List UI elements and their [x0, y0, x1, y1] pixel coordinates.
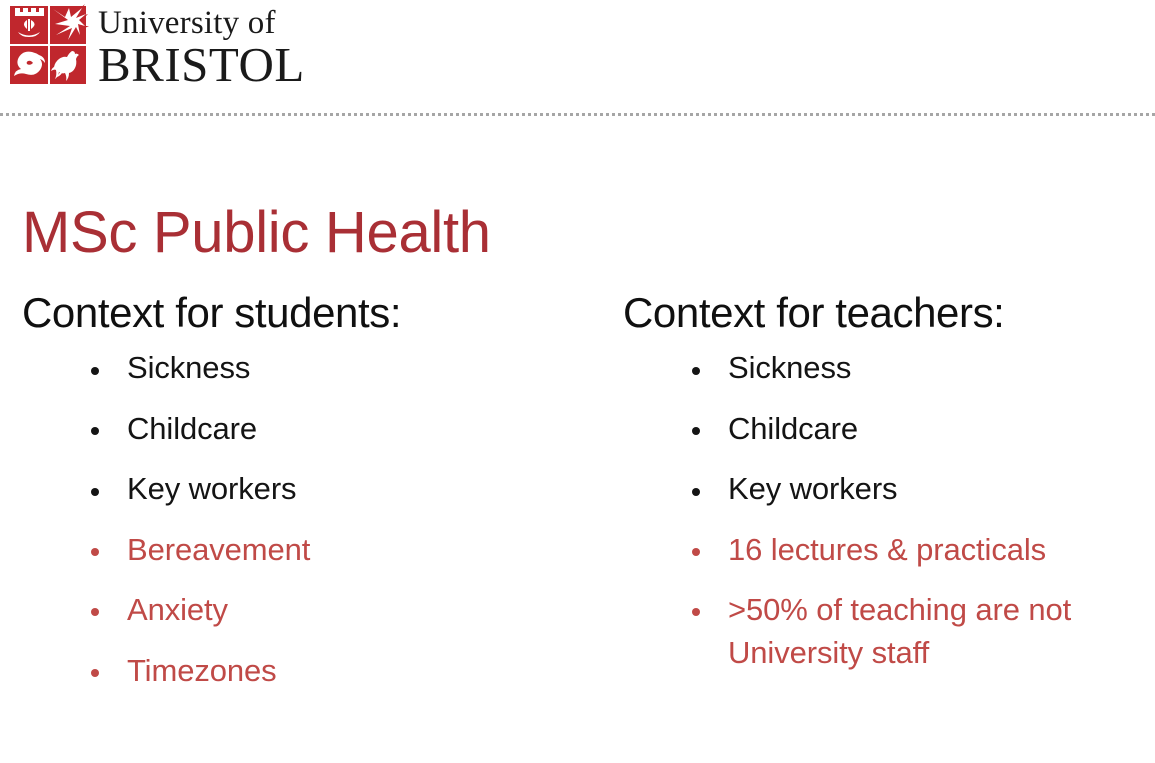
bullet-dot-icon — [91, 367, 99, 375]
list-item: Childcare — [22, 408, 600, 450]
content-columns: Context for students: Sickness Childcare… — [0, 290, 1155, 692]
wordmark-line-2: BRISTOL — [98, 40, 305, 89]
bullet-list-students: Sickness Childcare Key workers Bereaveme… — [22, 347, 600, 692]
list-item: Bereavement — [22, 529, 600, 571]
list-item: 16 lectures & practicals — [623, 529, 1155, 571]
bullet-dot-icon — [692, 548, 700, 556]
list-item-label: Anxiety — [127, 589, 547, 631]
list-item-label: >50% of teaching are not University staf… — [728, 589, 1148, 674]
bullet-list-teachers: Sickness Childcare Key workers 16 lectur… — [623, 347, 1155, 674]
list-item-label: Sickness — [728, 347, 1148, 389]
university-crest-icon — [6, 2, 90, 88]
list-item: Anxiety — [22, 589, 600, 631]
list-item: Childcare — [623, 408, 1155, 450]
slide-header: University of BRISTOL — [0, 0, 1155, 116]
list-item-label: Timezones — [127, 650, 547, 692]
bullet-dot-icon — [91, 427, 99, 435]
list-item: Key workers — [22, 468, 600, 510]
list-item-label: Bereavement — [127, 529, 547, 571]
list-item: Timezones — [22, 650, 600, 692]
list-item: Key workers — [623, 468, 1155, 510]
bullet-dot-icon — [692, 608, 700, 616]
list-item-label: Key workers — [127, 468, 547, 510]
bullet-dot-icon — [692, 488, 700, 496]
list-item-label: Childcare — [728, 408, 1148, 450]
list-item-label: Key workers — [728, 468, 1148, 510]
bullet-dot-icon — [91, 488, 99, 496]
list-item: Sickness — [623, 347, 1155, 389]
list-item-label: 16 lectures & practicals — [728, 529, 1148, 571]
bullet-dot-icon — [91, 669, 99, 677]
list-item: Sickness — [22, 347, 600, 389]
list-item-label: Childcare — [127, 408, 547, 450]
bullet-dot-icon — [91, 548, 99, 556]
column-heading-teachers: Context for teachers: — [623, 290, 1155, 335]
column-students: Context for students: Sickness Childcare… — [0, 290, 600, 692]
slide: University of BRISTOL MSc Public Health … — [0, 0, 1155, 763]
university-wordmark: University of BRISTOL — [98, 6, 305, 89]
column-heading-students: Context for students: — [22, 290, 600, 335]
bullet-dot-icon — [91, 608, 99, 616]
university-logo: University of BRISTOL — [6, 2, 305, 89]
list-item-label: Sickness — [127, 347, 547, 389]
bullet-dot-icon — [692, 367, 700, 375]
page-title: MSc Public Health — [22, 204, 491, 262]
column-teachers: Context for teachers: Sickness Childcare… — [600, 290, 1155, 692]
list-item: >50% of teaching are not University staf… — [623, 589, 1155, 674]
bullet-dot-icon — [692, 427, 700, 435]
header-divider — [0, 113, 1155, 116]
